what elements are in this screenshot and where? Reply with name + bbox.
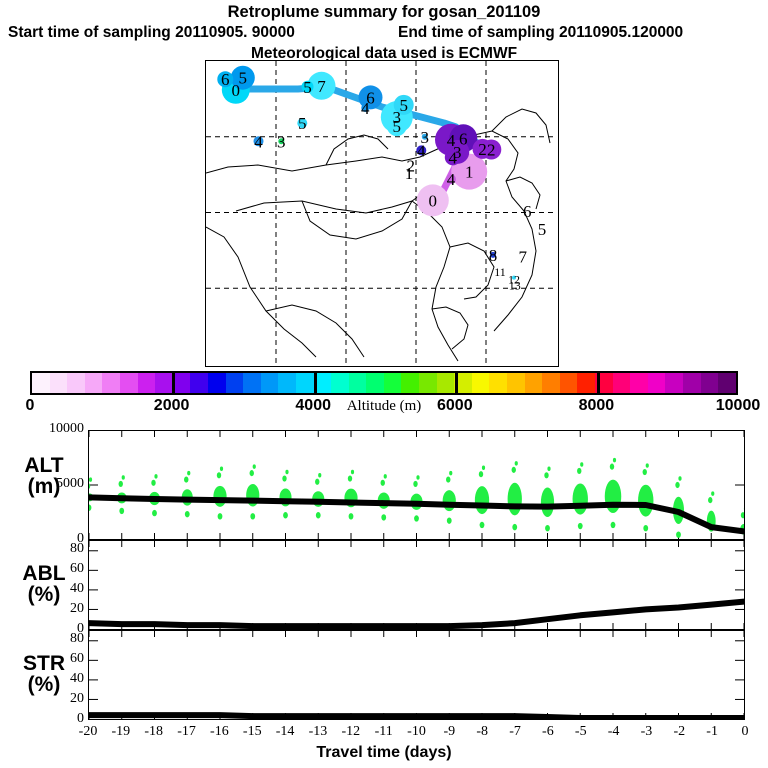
altitude-cluster-marker[interactable] <box>508 483 522 516</box>
altitude-cluster-satellite <box>547 467 550 471</box>
x-tick-label: -17 <box>170 724 204 740</box>
altitude-cluster-marker[interactable] <box>475 486 489 514</box>
colorbar-divider <box>597 373 600 393</box>
altitude-cluster-satellite <box>414 515 419 521</box>
altitude-cluster-satellite <box>381 514 386 520</box>
altitude-cluster-satellite <box>676 531 681 537</box>
map-cluster-label: 11 <box>494 265 506 279</box>
altitude-cluster-satellite <box>184 477 188 483</box>
map-cluster-label: 5 <box>298 114 307 133</box>
x-tick-label: -12 <box>334 724 368 740</box>
x-tick-label: -9 <box>432 724 466 740</box>
abl-plot-canvas <box>89 541 744 629</box>
y-tick-label: 0 <box>0 711 84 727</box>
colorbar-segment <box>613 373 631 393</box>
colorbar-segment <box>226 373 244 393</box>
map-cluster-label: 5 <box>538 220 547 239</box>
altitude-cluster-satellite <box>89 477 92 481</box>
altitude-cluster-satellite <box>678 476 681 480</box>
x-tick-label: -3 <box>629 724 663 740</box>
y-tick-label: 10000 <box>0 421 84 437</box>
x-tick-label: -4 <box>597 724 631 740</box>
altitude-cluster-satellite <box>218 513 223 519</box>
x-tick-label: -5 <box>564 724 598 740</box>
map-coastline <box>432 307 468 349</box>
altitude-cluster-satellite <box>741 512 744 518</box>
map-cluster-label: 13 <box>509 279 521 293</box>
altitude-cluster-satellite <box>250 470 254 476</box>
altitude-cluster-satellite <box>643 469 647 475</box>
colorbar-segment <box>665 373 683 393</box>
altitude-cluster-satellite <box>152 510 157 516</box>
altitude-plot[interactable] <box>88 430 745 540</box>
x-tick-label: -10 <box>400 724 434 740</box>
altitude-cluster-satellite <box>480 522 485 528</box>
y-tick-label: 60 <box>0 651 84 667</box>
colorbar-segment <box>85 373 103 393</box>
altitude-cluster-satellite <box>449 471 452 475</box>
altitude-cluster-satellite <box>316 512 321 518</box>
altitude-cluster-satellite <box>282 475 286 481</box>
altitude-cluster-satellite <box>349 513 354 519</box>
y-tick-label: 60 <box>0 561 84 577</box>
colorbar-segment <box>648 373 666 393</box>
altitude-cluster-satellite <box>220 467 223 471</box>
x-tick-label: -13 <box>301 724 335 740</box>
colorbar-axis-label: Altitude (m) <box>0 398 768 415</box>
colorbar-segment <box>489 373 507 393</box>
altitude-cluster-satellite <box>250 513 255 519</box>
x-tick-label: 0 <box>728 724 762 740</box>
altitude-cluster-marker[interactable] <box>541 488 554 518</box>
altitude-cluster-satellite <box>185 511 190 517</box>
altitude-cluster-marker[interactable] <box>443 490 456 511</box>
altitude-cluster-satellite <box>384 474 387 478</box>
altitude-cluster-satellite <box>578 523 583 529</box>
map-cluster-label: 4 <box>254 132 263 151</box>
altitude-cluster-satellite <box>482 465 485 469</box>
y-tick-label: 5000 <box>0 476 84 492</box>
x-tick-label: -2 <box>662 724 696 740</box>
y-tick-label: 80 <box>0 631 84 647</box>
altitude-plot-canvas <box>89 431 744 539</box>
map-coastline <box>492 109 550 143</box>
altitude-cluster-satellite <box>351 470 354 474</box>
x-tick-label: -15 <box>235 724 269 740</box>
altitude-cluster-satellite <box>447 517 452 523</box>
colorbar-segment <box>419 373 437 393</box>
colorbar-segment <box>208 373 226 393</box>
map-cluster-label: 4 <box>417 141 426 160</box>
map-coastline <box>450 243 494 299</box>
colorbar-segment <box>278 373 296 393</box>
colorbar-segment <box>138 373 156 393</box>
altitude-cluster-satellite <box>577 468 581 474</box>
colorbar-segment <box>401 373 419 393</box>
retroplume-map[interactable]: 065576453554334462234140218711121365 <box>205 60 559 367</box>
colorbar-segment <box>190 373 208 393</box>
colorbar-segment <box>560 373 578 393</box>
altitude-cluster-satellite <box>217 472 221 478</box>
x-tick-label: -8 <box>465 724 499 740</box>
colorbar-segment <box>525 373 543 393</box>
altitude-cluster-satellite <box>708 497 712 503</box>
map-cluster-label: 0 <box>429 191 438 210</box>
colorbar-segment <box>296 373 314 393</box>
altitude-cluster-satellite <box>154 474 157 478</box>
altitude-cluster-satellite <box>285 470 288 474</box>
map-cluster-label: 5 <box>393 117 402 136</box>
colorbar-segment <box>577 373 595 393</box>
end-time-label: End time of sampling 20110905.120000 <box>398 24 683 42</box>
colorbar-segment <box>155 373 173 393</box>
start-time-label: Start time of sampling 20110905. 90000 <box>8 24 295 42</box>
page-title: Retroplume summary for gosan_201109 <box>0 3 768 22</box>
altitude-cluster-satellite <box>711 491 714 495</box>
altitude-cluster-satellite <box>381 480 385 486</box>
colorbar-segment <box>173 373 191 393</box>
abl-line <box>89 602 744 627</box>
colorbar-segment <box>437 373 455 393</box>
altitude-cluster-satellite <box>545 525 550 531</box>
altitude-cluster-satellite <box>413 481 417 487</box>
map-cluster-label: 1 <box>465 163 474 182</box>
altitude-cluster-satellite <box>151 480 155 486</box>
altitude-cluster-satellite <box>512 524 517 530</box>
colorbar-segment <box>718 373 736 393</box>
str-line <box>89 715 744 718</box>
x-axis-tick-labels: -20-19-18-17-16-15-14-13-12-11-10-9-8-7-… <box>0 724 768 744</box>
colorbar-segment <box>67 373 85 393</box>
altitude-cluster-satellite <box>515 461 518 465</box>
map-coastline <box>412 201 458 361</box>
map-cluster-label: 4 <box>361 99 370 118</box>
altitude-cluster-satellite <box>283 512 288 518</box>
altitude-cluster-satellite <box>348 475 352 481</box>
colorbar-segment <box>120 373 138 393</box>
x-tick-label: -11 <box>367 724 401 740</box>
map-cluster-label: 2 <box>487 141 496 160</box>
altitude-cluster-satellite <box>544 472 548 478</box>
y-tick-label: 40 <box>0 671 84 687</box>
map-cluster-label: 2 <box>478 140 487 159</box>
map-cluster-label: 1 <box>405 164 414 183</box>
altitude-cluster-marker[interactable] <box>605 480 622 513</box>
map-cluster-label: 6 <box>221 70 230 89</box>
colorbar-segment <box>472 373 490 393</box>
colorbar-segment <box>630 373 648 393</box>
map-coastline <box>302 201 412 239</box>
x-tick-label: -14 <box>268 724 302 740</box>
x-tick-label: -6 <box>531 724 565 740</box>
map-cluster-label: 8 <box>489 246 498 265</box>
map-cluster-label: 7 <box>317 77 326 96</box>
map-cluster-label: 3 <box>277 132 286 151</box>
colorbar-segment <box>366 373 384 393</box>
altitude-cluster-satellite <box>89 504 91 510</box>
altitude-cluster-satellite <box>643 525 648 531</box>
y-tick-label: 80 <box>0 541 84 557</box>
map-cluster-label: 6 <box>523 202 532 221</box>
x-tick-label: -18 <box>137 724 171 740</box>
colorbar-segment <box>384 373 402 393</box>
x-tick-label: -19 <box>104 724 138 740</box>
colorbar-segment <box>542 373 560 393</box>
altitude-cluster-satellite <box>610 464 614 470</box>
altitude-cluster-satellite <box>253 464 256 468</box>
altitude-cluster-marker[interactable] <box>213 486 226 507</box>
colorbar-segment <box>349 373 367 393</box>
colorbar-segment <box>32 373 50 393</box>
map-cluster-label: 4 <box>447 170 456 189</box>
altitude-cluster-satellite <box>675 482 679 488</box>
map-coastline <box>206 227 316 357</box>
map-canvas: 065576453554334462234140218711121365 <box>206 61 556 364</box>
altitude-cluster-satellite <box>318 473 321 477</box>
colorbar-divider <box>172 373 175 393</box>
altitude-cluster-satellite <box>119 508 124 514</box>
altitude-cluster-satellite <box>613 458 616 462</box>
str-plot[interactable] <box>88 630 745 720</box>
altitude-cluster-satellite <box>646 463 649 467</box>
altitude-colorbar: 0200040006000800010000 <box>30 371 738 395</box>
colorbar-divider <box>455 373 458 393</box>
altitude-cluster-satellite <box>512 467 516 473</box>
colorbar-divider <box>314 373 317 393</box>
altitude-cluster-marker[interactable] <box>573 483 588 514</box>
colorbar-segment <box>102 373 120 393</box>
altitude-cluster-satellite <box>416 475 419 479</box>
altitude-cluster-satellite <box>479 471 483 477</box>
altitude-cluster-satellite <box>119 481 123 487</box>
x-tick-label: -7 <box>498 724 532 740</box>
altitude-cluster-satellite <box>122 475 125 479</box>
altitude-cluster-satellite <box>315 479 319 485</box>
colorbar-segment <box>243 373 261 393</box>
map-coastline <box>206 135 474 173</box>
map-cluster-label: 5 <box>239 69 248 88</box>
x-tick-label: -16 <box>202 724 236 740</box>
altitude-cluster-marker[interactable] <box>638 485 653 517</box>
x-tick-label: -1 <box>695 724 729 740</box>
map-cluster-label: 7 <box>519 247 528 266</box>
map-cluster-label: 4 <box>449 148 458 167</box>
abl-plot[interactable] <box>88 540 745 630</box>
alt-axis-label-line1: ALT <box>6 455 82 476</box>
map-coastline <box>266 305 364 357</box>
altitude-cluster-satellite <box>580 462 583 466</box>
altitude-cluster-satellite <box>187 471 190 475</box>
colorbar-gradient <box>30 371 738 395</box>
y-tick-label: 20 <box>0 691 84 707</box>
colorbar-segment <box>683 373 701 393</box>
y-tick-label: 40 <box>0 581 84 597</box>
colorbar-segment <box>50 373 68 393</box>
colorbar-segment <box>261 373 279 393</box>
altitude-cluster-satellite <box>89 483 90 489</box>
colorbar-segment <box>507 373 525 393</box>
map-coastline <box>236 191 426 213</box>
map-cluster-label: 5 <box>303 78 312 97</box>
colorbar-segment <box>701 373 719 393</box>
y-tick-label: 20 <box>0 601 84 617</box>
colorbar-segment <box>331 373 349 393</box>
altitude-cluster-satellite <box>446 477 450 483</box>
x-axis-label: Travel time (days) <box>0 744 768 762</box>
str-plot-canvas <box>89 631 744 719</box>
altitude-cluster-satellite <box>611 522 616 528</box>
